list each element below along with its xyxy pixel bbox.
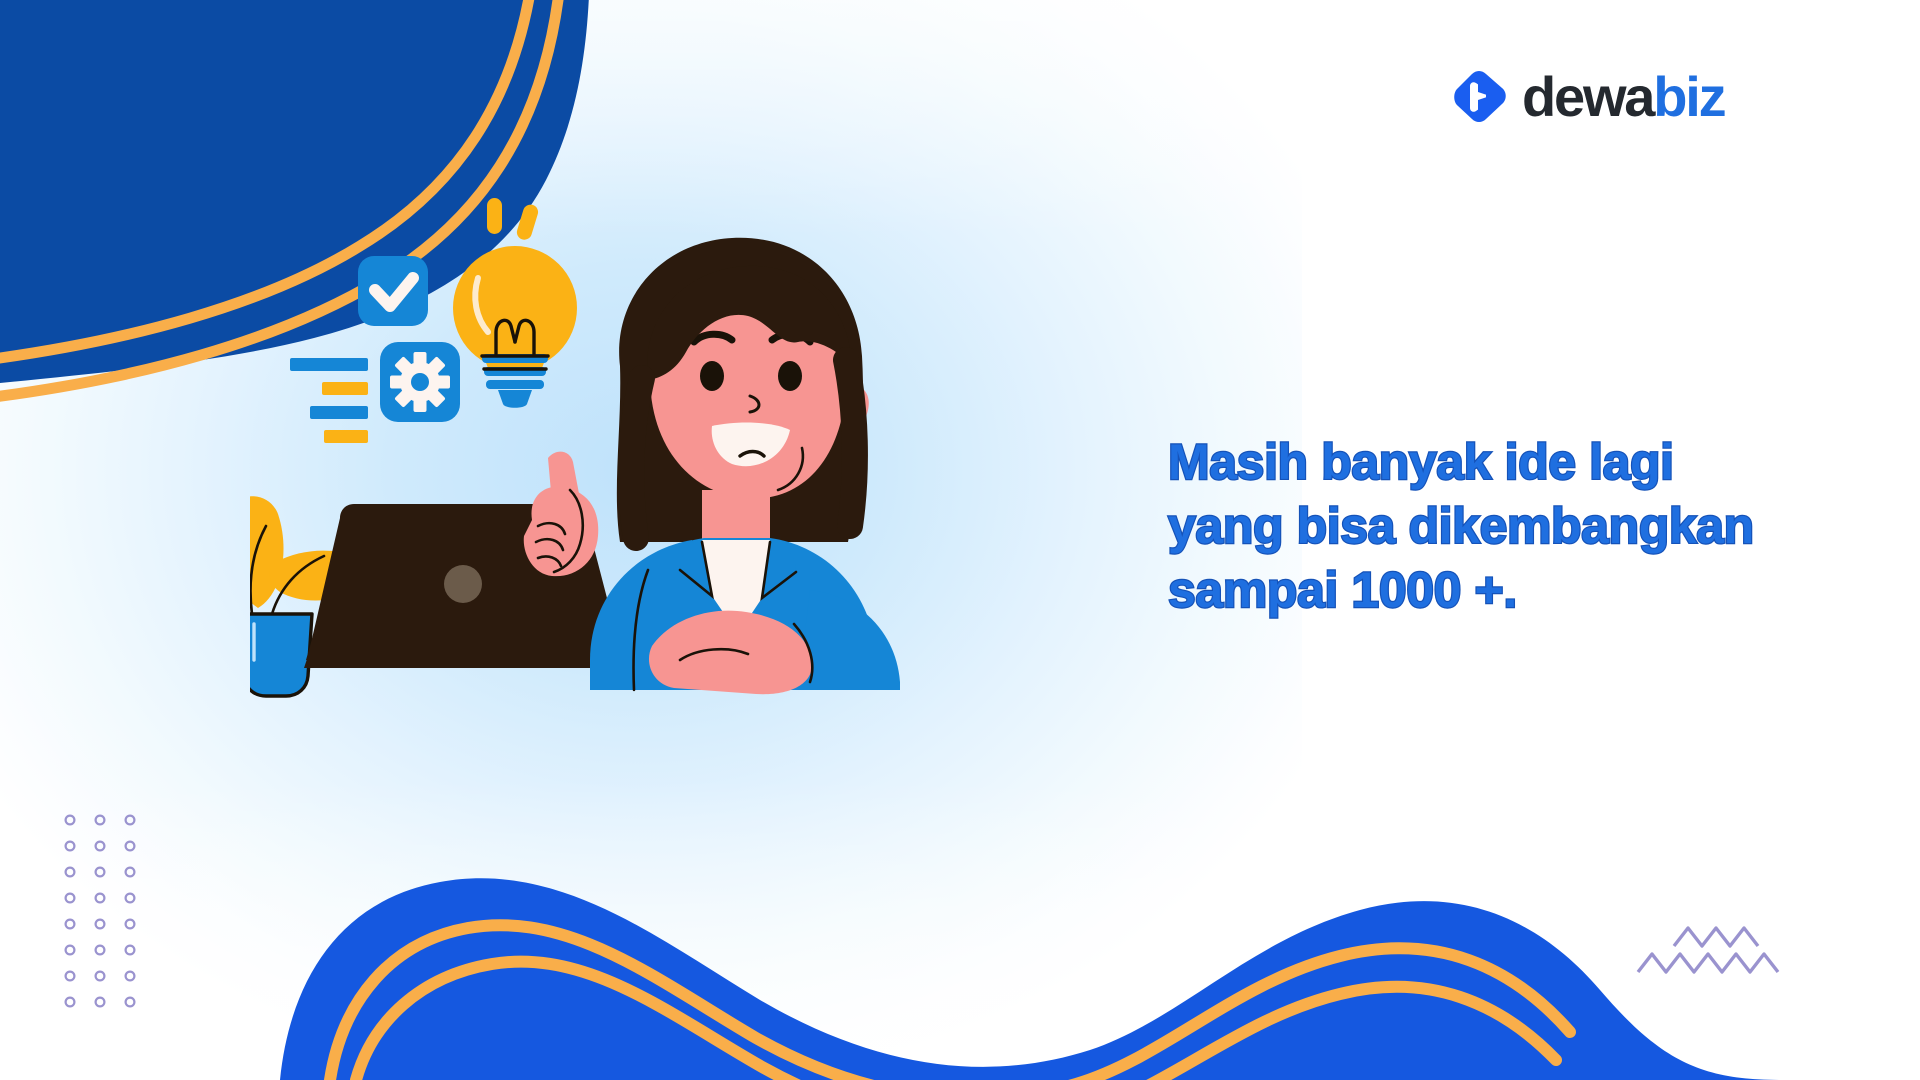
headline-line-3: sampai 1000 +. xyxy=(1168,558,1868,622)
checkmark-icon xyxy=(358,256,428,326)
headline-line-2: yang bisa dikembangkan xyxy=(1168,494,1868,558)
lightbulb-icon xyxy=(453,198,577,408)
logo-wordmark: dewabiz xyxy=(1522,69,1724,125)
dewabiz-hexagon-mark xyxy=(1452,66,1510,128)
headline-block: Masih banyak ide lagi yang bisa dikemban… xyxy=(1168,430,1868,622)
slide-canvas: dewabiz Masih banyak ide lagi yang bisa … xyxy=(0,0,1920,1080)
blue-wave-shape xyxy=(280,878,1780,1080)
dot-grid-pattern xyxy=(62,812,146,1008)
logo-text-biz: biz xyxy=(1653,65,1724,128)
bar-list-icon xyxy=(290,358,368,443)
zigzag-pattern xyxy=(1636,910,1836,980)
zigzag-line-bottom xyxy=(1638,954,1778,972)
gear-icon xyxy=(380,342,460,422)
dewabiz-logo[interactable]: dewabiz xyxy=(1452,66,1724,128)
zigzag-line-top xyxy=(1674,928,1758,946)
woman-with-laptop-illustration xyxy=(250,190,1150,810)
logo-text-dewa: dewa xyxy=(1522,65,1653,128)
pointing-hand xyxy=(524,452,599,577)
headline-line-1: Masih banyak ide lagi xyxy=(1168,430,1868,494)
